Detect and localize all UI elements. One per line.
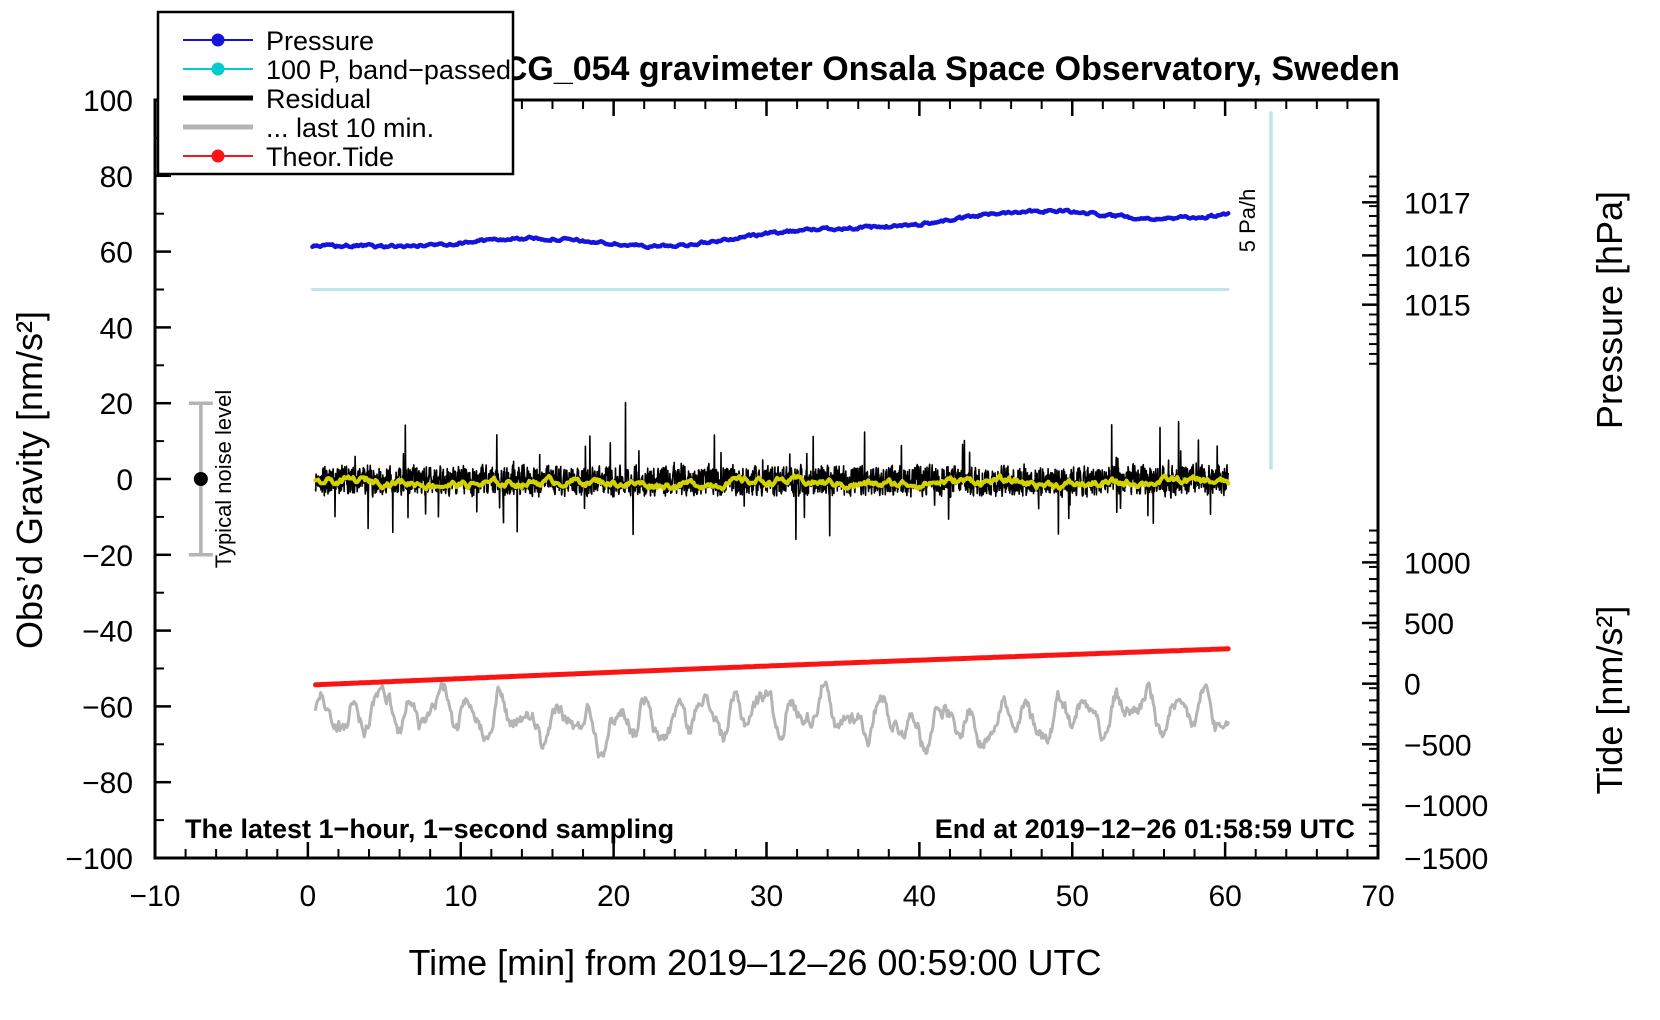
- noise-level-point: [194, 472, 208, 486]
- x-tick-label: 30: [750, 880, 783, 913]
- x-tick-label: 0: [300, 880, 317, 913]
- tide-tick-label: −1000: [1404, 790, 1488, 823]
- footer-note-left: The latest 1−hour, 1−second sampling: [185, 814, 674, 844]
- x-tick-label: −10: [130, 880, 181, 913]
- y-axis-title-tide: Tide [nm/s²]: [1589, 606, 1630, 795]
- legend-label-4: Theor.Tide: [266, 142, 394, 172]
- y-tick-label: −100: [65, 843, 133, 876]
- y-tick-label: 80: [100, 161, 133, 194]
- footer-note-right: End at 2019−12−26 01:58:59 UTC: [935, 814, 1355, 844]
- tide-tick-label: 0: [1404, 669, 1421, 702]
- pressure-rate-scale-label: 5 Pa/h: [1235, 189, 1260, 253]
- legend-label-1: 100 P, band−passed: [266, 55, 511, 85]
- y-tick-label: −60: [82, 691, 133, 724]
- y-axis-title: Obs’d Gravity [nm/s²]: [9, 311, 50, 649]
- x-tick-label: 60: [1208, 880, 1241, 913]
- x-tick-label: 40: [903, 880, 936, 913]
- y-tick-label: 100: [83, 85, 133, 118]
- gravimeter-chart: −10010203040506070100806040200−20−40−60−…: [0, 0, 1660, 1020]
- noise-level-label: Typical noise level: [211, 390, 236, 569]
- pressure-tick-label: 1017: [1404, 187, 1471, 220]
- y-axis-title-pressure: Pressure [hPa]: [1589, 191, 1630, 429]
- tide-tick-label: −1500: [1404, 843, 1488, 876]
- legend-label-0: Pressure: [266, 26, 374, 56]
- legend-marker-1: [212, 63, 225, 76]
- gravimeter-plot-page: −10010203040506070100806040200−20−40−60−…: [0, 0, 1660, 1020]
- x-tick-label: 70: [1361, 880, 1394, 913]
- pressure-tick-label: 1015: [1404, 290, 1471, 323]
- legend-marker-0: [212, 34, 225, 47]
- x-tick-label: 10: [444, 880, 477, 913]
- y-tick-label: −80: [82, 767, 133, 800]
- y-tick-label: −40: [82, 616, 133, 649]
- x-tick-label: 20: [597, 880, 630, 913]
- x-tick-label: 50: [1056, 880, 1089, 913]
- y-tick-label: 20: [100, 388, 133, 421]
- y-tick-label: −20: [82, 540, 133, 573]
- legend-marker-4: [212, 150, 225, 163]
- y-tick-label: 40: [100, 312, 133, 345]
- legend-label-2: Residual: [266, 84, 371, 114]
- pressure-tick-label: 1016: [1404, 240, 1471, 273]
- tide-tick-label: 1000: [1404, 547, 1471, 580]
- y-tick-label: 0: [116, 464, 133, 497]
- tide-tick-label: −500: [1404, 729, 1472, 762]
- tide-tick-label: 500: [1404, 608, 1454, 641]
- chart-legend: Pressure100 P, band−passedResidual... la…: [158, 12, 513, 174]
- legend-label-3: ... last 10 min.: [266, 113, 434, 143]
- y-tick-label: 60: [100, 237, 133, 270]
- x-axis-title: Time [min] from 2019–12–26 00:59:00 UTC: [408, 942, 1101, 983]
- chart-title: SCG_054 gravimeter Onsala Space Observat…: [480, 50, 1400, 88]
